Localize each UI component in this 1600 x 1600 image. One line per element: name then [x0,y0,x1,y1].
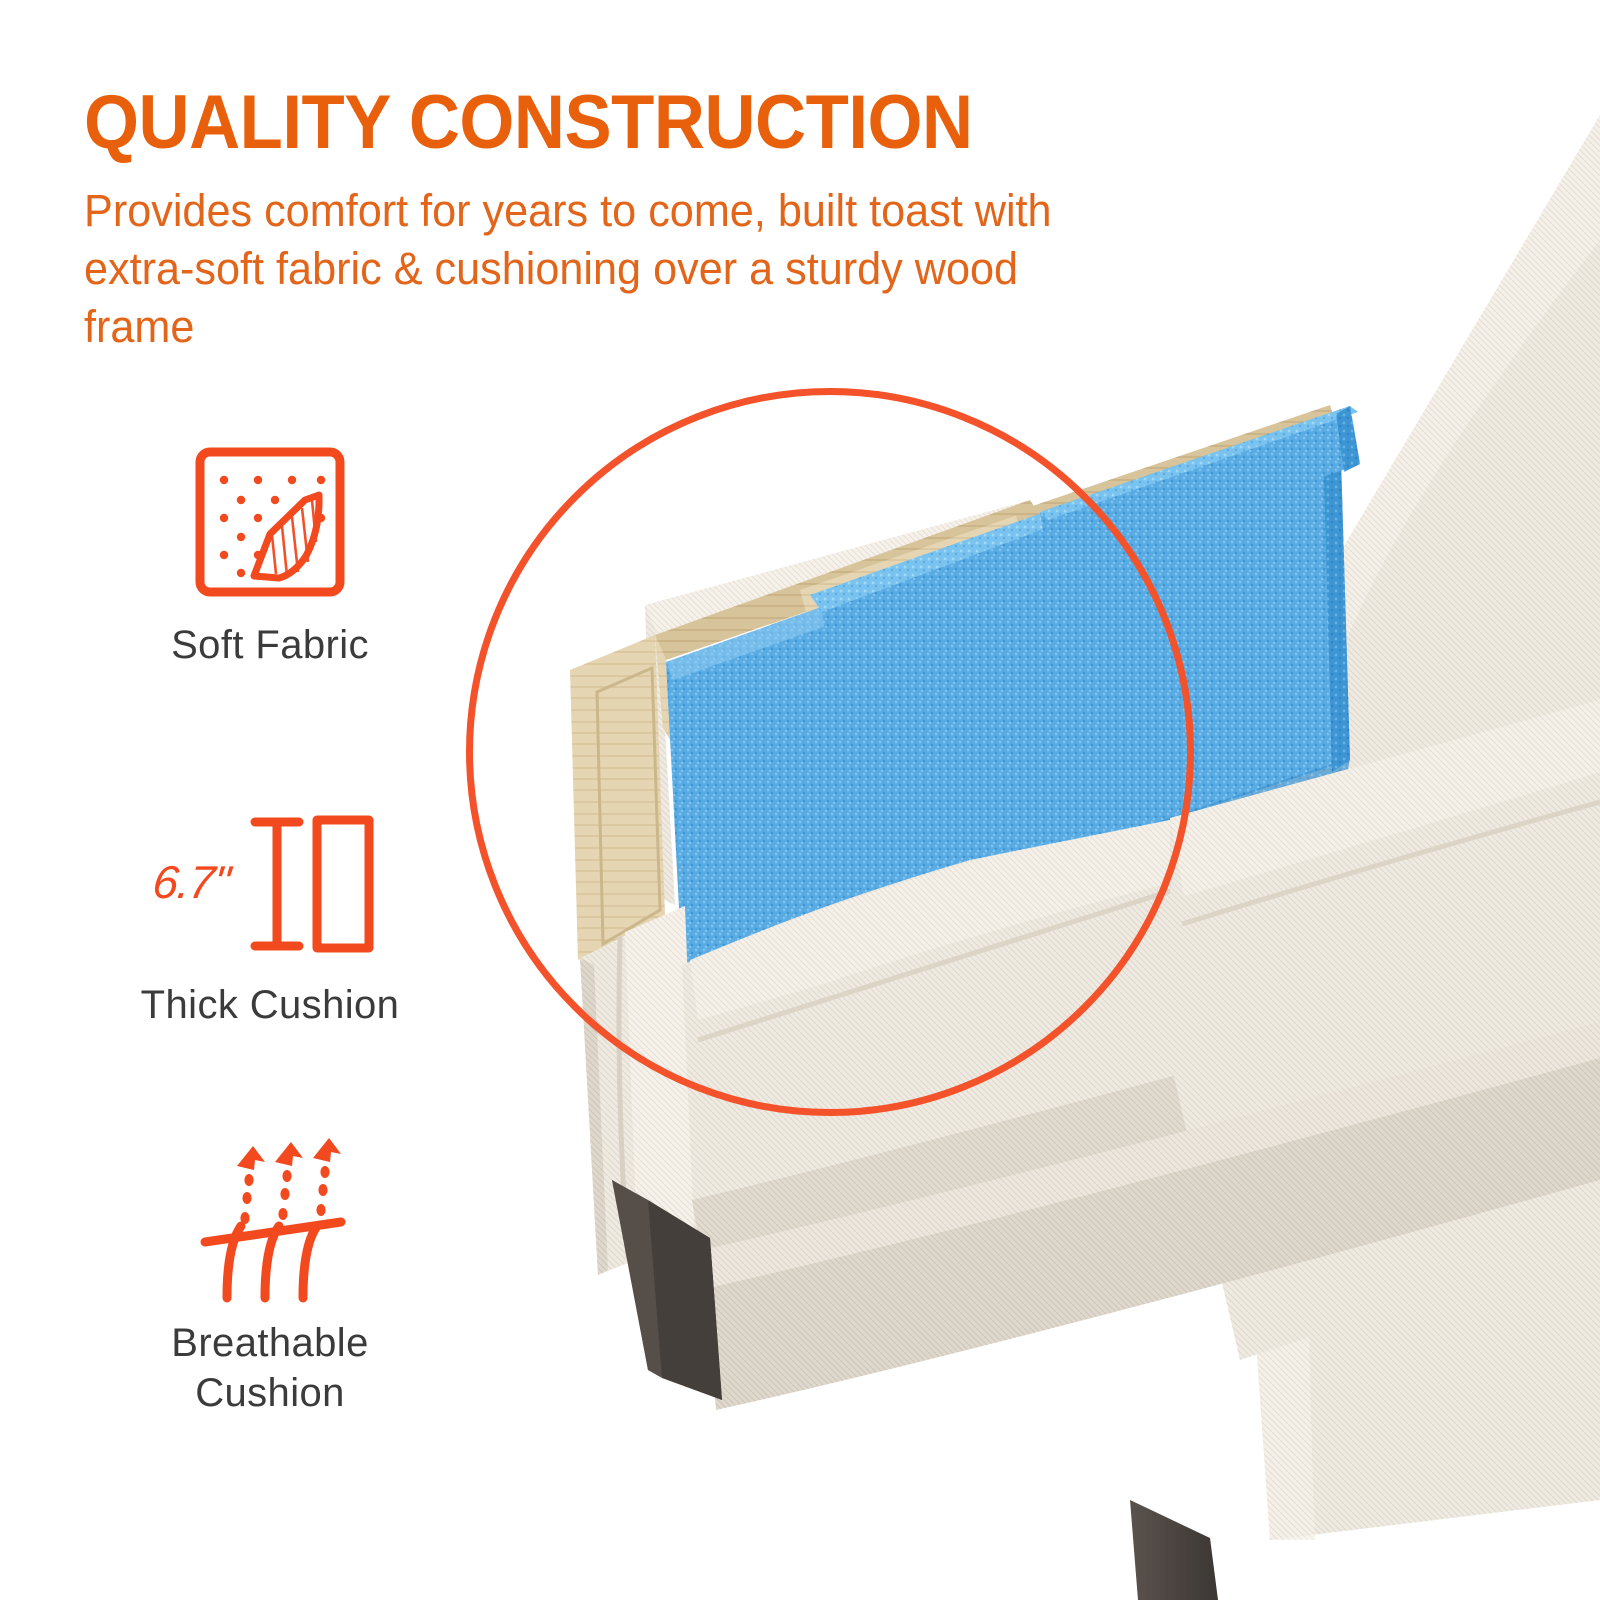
cushion-thickness-icon-wrap: 6.7" [60,798,480,966]
cushion-dimension-value: 6.7" [150,855,232,909]
feature-label-line: Cushion [60,1368,480,1418]
fabric-swatch-icon-wrap [60,438,480,606]
feature-breathable-cushion: Breathable Cushion [60,1136,480,1418]
feature-thick-cushion: 6.7" Thick Cushion [60,798,480,1030]
product-photo [470,60,1600,1600]
feature-soft-fabric: Soft Fabric [60,438,480,670]
feature-label-soft-fabric: Soft Fabric [60,620,480,670]
sofa-illustration [470,60,1600,1600]
feature-label-line: Thick Cushion [60,980,480,1030]
cushion-thickness-icon [237,798,387,966]
breathable-airflow-icon [175,1130,365,1310]
sofa-leg-right [1130,1500,1218,1600]
feature-label-line: Soft Fabric [60,620,480,670]
feature-label-line: Breathable [60,1318,480,1368]
infographic-canvas: QUALITY CONSTRUCTION Provides comfort fo… [0,0,1600,1600]
fabric-swatch-icon [186,438,354,606]
feature-label-breathable-cushion: Breathable Cushion [60,1318,480,1418]
feature-label-thick-cushion: Thick Cushion [60,980,480,1030]
breathable-airflow-icon-wrap [60,1136,480,1304]
